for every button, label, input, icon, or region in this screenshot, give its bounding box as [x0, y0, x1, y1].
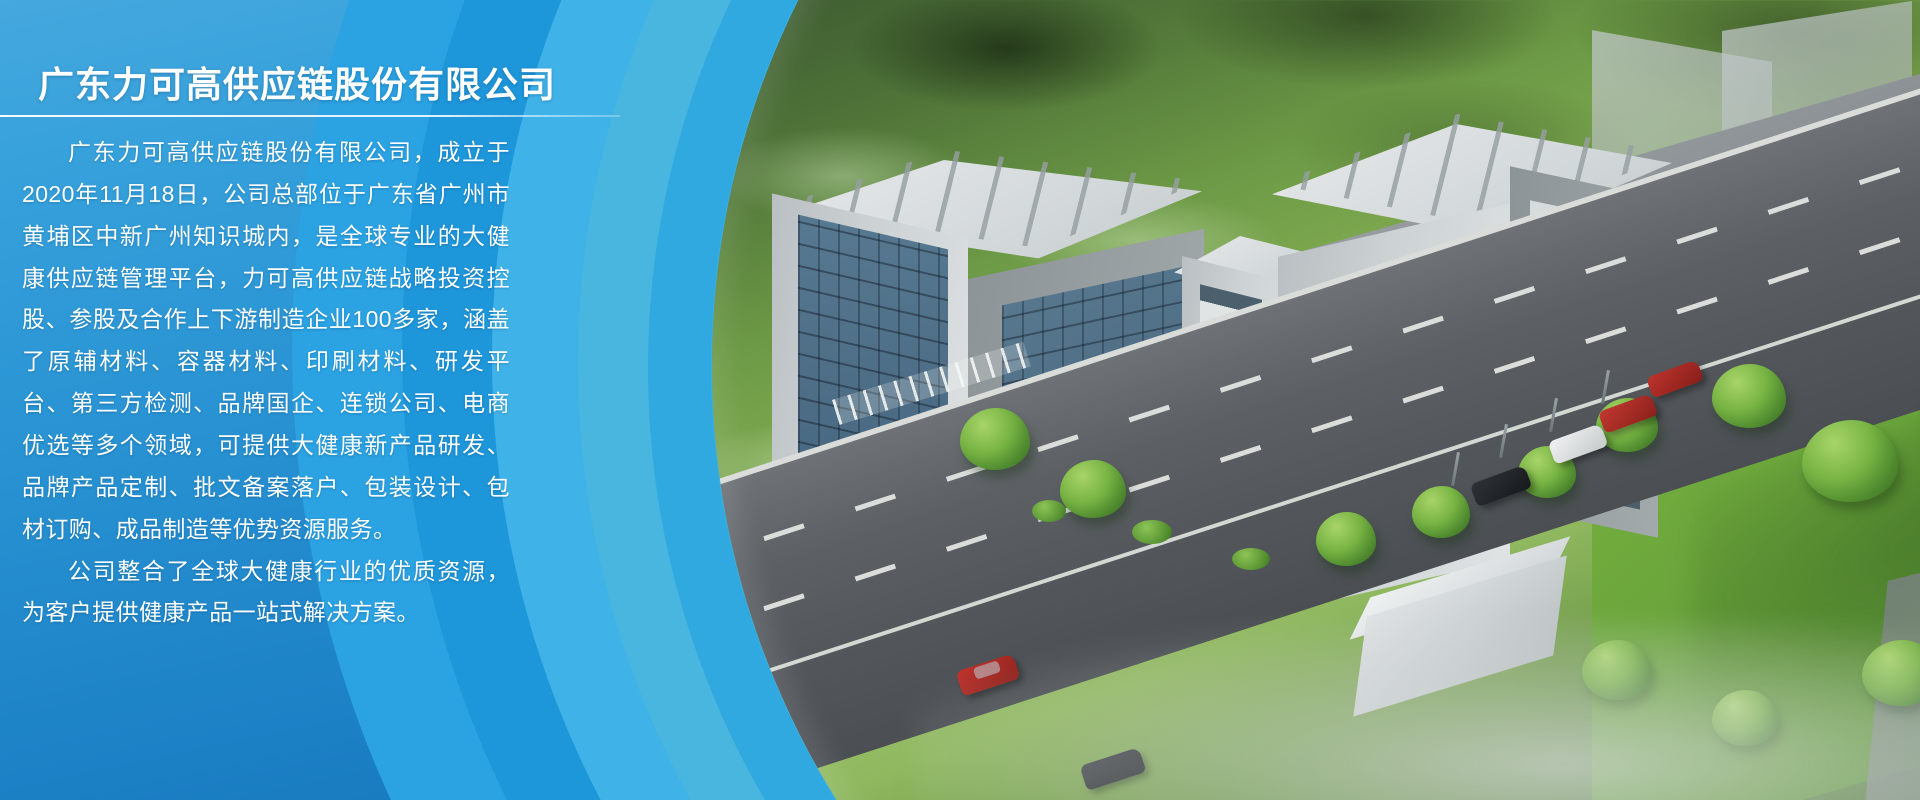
tree — [1316, 512, 1376, 566]
tree — [960, 408, 1030, 470]
description-paragraph-2: 公司整合了全球大健康行业的优质资源，为客户提供健康产品一站式解决方案。 — [22, 551, 510, 635]
tree — [1412, 486, 1470, 538]
campus-photo: 生物医药产业园 — [712, 0, 1920, 800]
tree — [1060, 460, 1126, 518]
shrub — [1032, 500, 1066, 522]
company-title: 广东力可高供应链股份有限公司 — [38, 56, 556, 108]
tree — [1802, 420, 1898, 502]
company-description: 广东力可高供应链股份有限公司，成立于2020年11月18日，公司总部位于广东省广… — [22, 132, 510, 634]
campus-photo-disc: 生物医药产业园 — [712, 0, 1920, 800]
shrub — [1232, 548, 1270, 570]
road-haze — [912, 620, 1920, 800]
shrub — [1132, 520, 1172, 544]
title-divider — [0, 115, 620, 117]
tree — [1712, 364, 1786, 428]
description-paragraph-1: 广东力可高供应链股份有限公司，成立于2020年11月18日，公司总部位于广东省广… — [22, 132, 510, 551]
hero-banner: 生物医药产业园 — [0, 0, 1920, 800]
intro-text-panel: 广东力可高供应链股份有限公司 广东力可高供应链股份有限公司，成立于2020年11… — [0, 0, 640, 800]
